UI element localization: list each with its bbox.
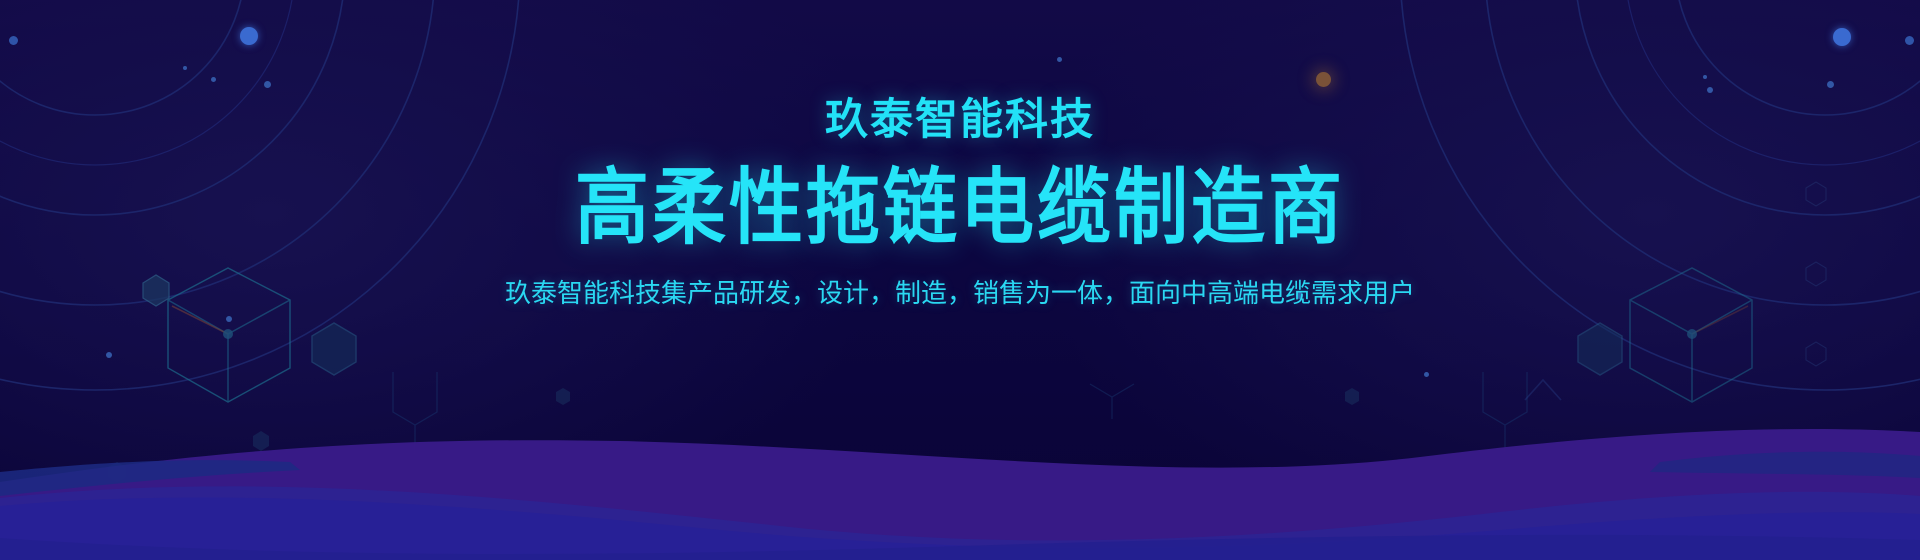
hero-banner: 玖泰智能科技 高柔性拖链电缆制造商 玖泰智能科技集产品研发，设计，制造，销售为一… [0,0,1920,560]
banner-eyebrow: 玖泰智能科技 [825,98,1095,143]
banner-text-block: 玖泰智能科技 高柔性拖链电缆制造商 玖泰智能科技集产品研发，设计，制造，销售为一… [0,0,1920,560]
banner-tagline: 玖泰智能科技集产品研发，设计，制造，销售为一体，面向中高端电缆需求用户 [505,277,1415,311]
banner-headline: 高柔性拖链电缆制造商 [575,163,1345,252]
